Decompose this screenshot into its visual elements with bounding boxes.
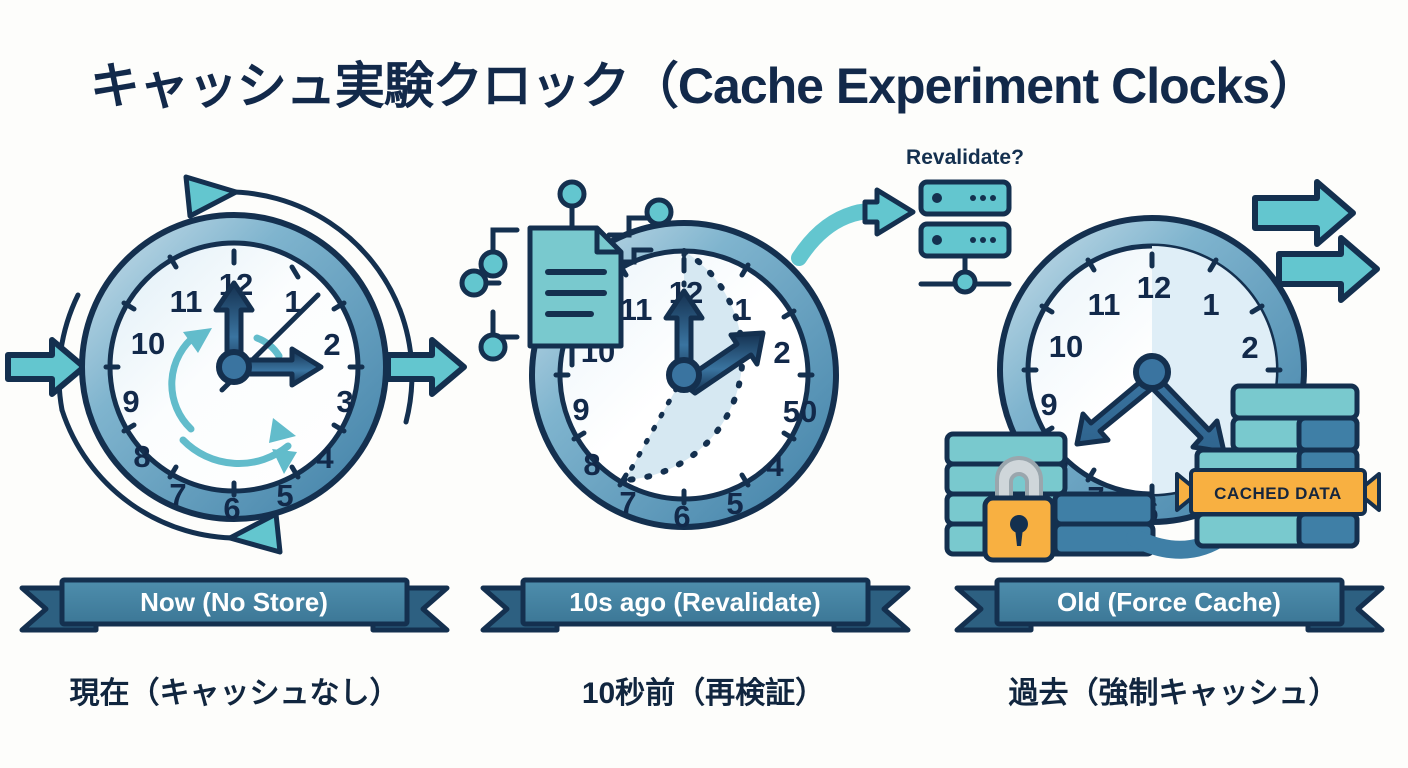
ribbon-banner-now-no-store: Now (No Store) — [0, 578, 469, 644]
flow-arrow-upper — [1255, 182, 1353, 244]
ribbon-label: 10s ago (Revalidate) — [569, 587, 820, 617]
svg-text:50: 50 — [783, 394, 817, 429]
svg-text:11: 11 — [170, 284, 203, 319]
ribbon-banner-force-cache: Old (Force Cache) — [939, 578, 1408, 644]
svg-text:9: 9 — [122, 384, 139, 419]
page-title: キャッシュ実験クロック（Cache Experiment Clocks） — [0, 46, 1408, 118]
svg-text:1: 1 — [1202, 287, 1219, 322]
svg-text:5: 5 — [726, 486, 743, 521]
cached-data-label: CACHED DATA — [1214, 484, 1342, 503]
flow-arrow-left — [8, 340, 84, 394]
svg-text:1: 1 — [734, 292, 751, 327]
svg-text:7: 7 — [619, 485, 636, 520]
clock-panel-revalidate: 12 1 2 50 4 5 6 7 8 9 10 11 — [469, 150, 938, 580]
caption-now-no-store: 現在（キャッシュなし） — [0, 668, 469, 712]
svg-text:8: 8 — [583, 447, 600, 482]
clock-center-pin — [219, 352, 249, 382]
caption-revalidate: 10秒前（再検証） — [469, 668, 938, 712]
ribbon-label: Now (No Store) — [140, 587, 328, 617]
clock-center-pin — [1136, 356, 1168, 388]
clock-panel-force-cache: 12 1 2 3 4 6 7 8 9 10 11 — [939, 150, 1408, 580]
svg-text:9: 9 — [1040, 387, 1057, 422]
svg-text:4: 4 — [316, 440, 334, 475]
ribbon-banner-revalidate: 10s ago (Revalidate) — [469, 578, 938, 644]
svg-text:10: 10 — [1049, 329, 1083, 364]
flow-arrow-right — [388, 340, 464, 394]
clock-panel-now-no-store: 12 1 2 3 4 5 6 7 8 9 10 11 — [0, 150, 469, 580]
svg-text:11: 11 — [620, 292, 653, 327]
svg-text:10: 10 — [131, 326, 165, 361]
svg-text:6: 6 — [673, 499, 690, 534]
svg-text:2: 2 — [323, 327, 340, 362]
curved-arrow-icon — [799, 190, 913, 258]
svg-text:7: 7 — [169, 477, 186, 512]
svg-text:4: 4 — [766, 448, 784, 483]
svg-text:5: 5 — [276, 478, 293, 513]
flow-arrow-lower — [1279, 238, 1377, 300]
svg-text:9: 9 — [572, 392, 589, 427]
cached-data-ribbon: CACHED DATA — [1177, 470, 1379, 514]
svg-text:8: 8 — [133, 439, 150, 474]
caption-force-cache: 過去（強制キャッシュ） — [939, 668, 1408, 712]
diagram-canvas: キャッシュ実験クロック（Cache Experiment Clocks） — [0, 0, 1408, 768]
svg-text:2: 2 — [1241, 330, 1258, 365]
clock-center-pin — [669, 360, 699, 390]
svg-text:2: 2 — [773, 335, 790, 370]
svg-text:11: 11 — [1088, 287, 1121, 322]
svg-text:6: 6 — [223, 491, 240, 526]
svg-text:12: 12 — [1137, 270, 1171, 305]
ribbon-label: Old (Force Cache) — [1057, 587, 1281, 617]
svg-text:3: 3 — [336, 384, 353, 419]
